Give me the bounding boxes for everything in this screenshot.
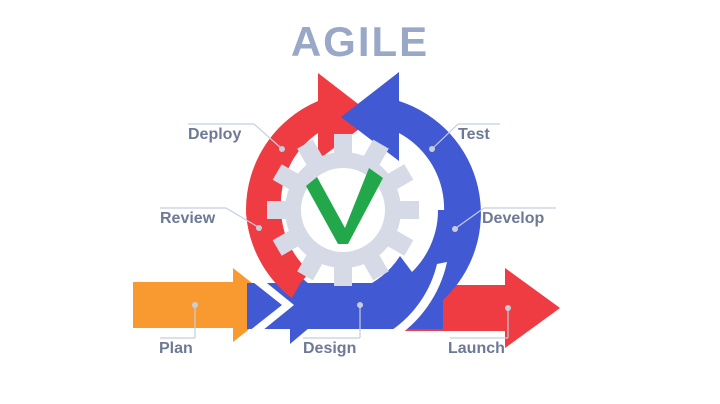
page-title: AGILE bbox=[291, 18, 429, 65]
agile-diagram-canvas: AGILE bbox=[0, 0, 720, 404]
label-deploy: Deploy bbox=[188, 126, 241, 143]
label-review: Review bbox=[160, 210, 216, 227]
label-test: Test bbox=[458, 126, 490, 143]
label-plan: Plan bbox=[159, 340, 193, 357]
label-develop: Develop bbox=[482, 210, 544, 227]
label-design: Design bbox=[303, 340, 356, 357]
agile-cycle-diagram: AGILE bbox=[0, 0, 720, 404]
label-launch: Launch bbox=[448, 340, 505, 357]
